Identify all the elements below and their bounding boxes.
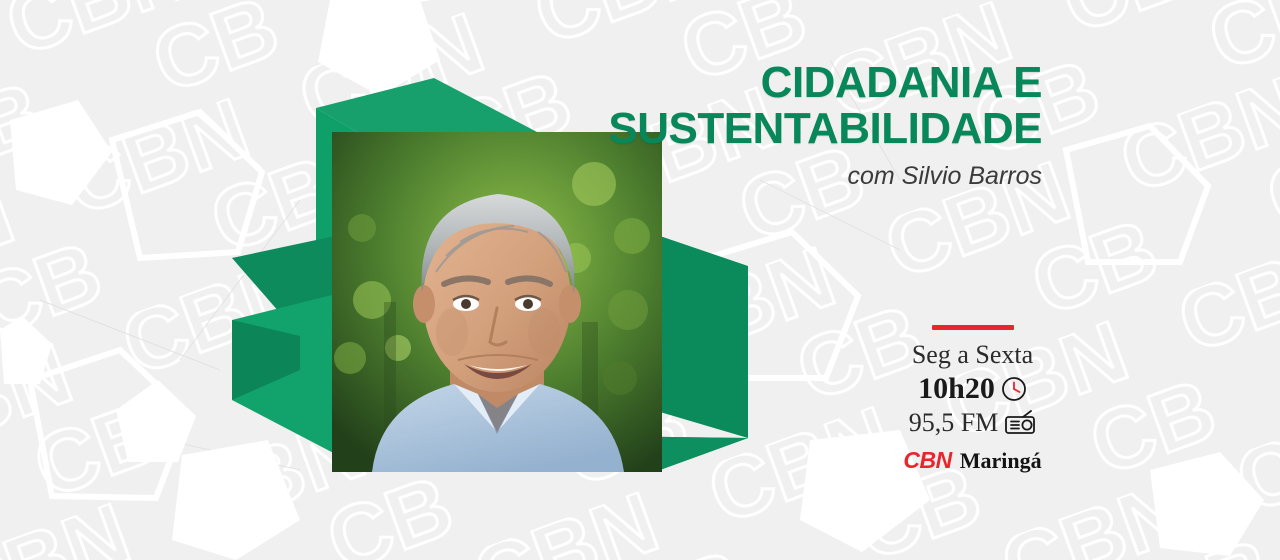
schedule-frequency: 95,5 FM: [909, 408, 999, 438]
page-title: CIDADANIA E: [482, 60, 1042, 106]
red-divider: [932, 325, 1014, 330]
clock-icon: [1001, 376, 1027, 402]
schedule-block: Seg a Sexta 10h20 95,5 FM: [890, 325, 1055, 474]
host-subtitle: com Silvio Barros: [482, 162, 1042, 190]
radio-icon: [1004, 410, 1036, 436]
program-banner: CBN CBN: [0, 0, 1280, 560]
schedule-time-row: 10h20: [890, 372, 1055, 406]
program-title-block: CIDADANIA E SUSTENTABILIDADE com Silvio …: [482, 60, 1042, 190]
city-wordmark: Maringá: [960, 448, 1042, 474]
cbn-wordmark: CBN: [903, 447, 951, 474]
page-title-line-2: SUSTENTABILIDADE: [482, 106, 1042, 152]
schedule-time: 10h20: [918, 372, 995, 406]
schedule-frequency-row: 95,5 FM: [890, 408, 1055, 438]
schedule-days: Seg a Sexta: [890, 340, 1055, 370]
cbn-maringa-logo: CBN Maringá: [890, 447, 1055, 474]
